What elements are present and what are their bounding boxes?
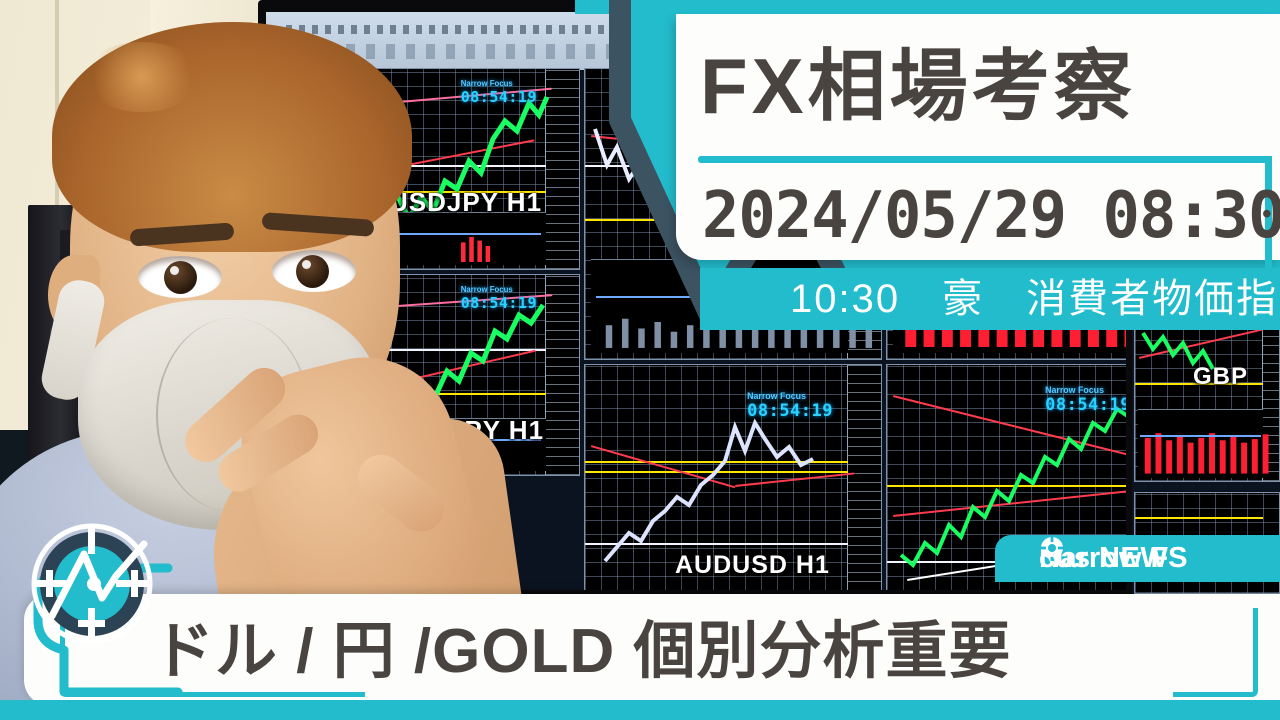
chart-clock: Narrow Focus 08:54:19 bbox=[461, 79, 537, 106]
chart-clock: Narrow Focus 08:54:19 bbox=[747, 391, 833, 421]
chart-indicator-pane bbox=[1138, 409, 1263, 478]
title-divider bbox=[698, 156, 1272, 163]
crosshair-linechart-icon bbox=[28, 520, 156, 648]
eye-left bbox=[138, 256, 222, 298]
thumbnail-canvas: Narrow Focus 08:54:19 USDJPY H1 bbox=[0, 0, 1280, 720]
brand-logo bbox=[28, 520, 156, 648]
page-title: FX相場考察 bbox=[700, 24, 1272, 148]
chart-watermark: Narrow Focus bbox=[747, 391, 833, 401]
chart-watermark: Narrow Focus bbox=[1045, 385, 1131, 395]
chart-level-line bbox=[1135, 517, 1263, 519]
thumb bbox=[349, 446, 453, 541]
chart-symbol-label: GBP bbox=[1193, 363, 1248, 391]
datetime-label: 2024/05/29 08:30 bbox=[702, 172, 1249, 260]
hair bbox=[52, 22, 412, 252]
indicator-histogram bbox=[1140, 426, 1280, 474]
title-card: FX相場考察 2024/05/29 08:30 bbox=[676, 14, 1280, 260]
chart-panel: GBP bbox=[1134, 310, 1280, 482]
chart-watermark: Narrow Focus bbox=[461, 79, 537, 88]
bottom-accent-bar bbox=[0, 700, 1280, 720]
chart-clock: Narrow Focus 08:54:19 bbox=[461, 285, 537, 312]
headline-text: ドル / 円 /GOLD 個別分析重要 bbox=[152, 602, 1246, 702]
event-label: 10:30 豪 消費者物価指数 bbox=[790, 268, 1274, 330]
chart-symbol-label: AUDUSD H1 bbox=[675, 551, 830, 580]
headline-banner: ドル / 円 /GOLD 個別分析重要 bbox=[24, 594, 1280, 706]
iris-right bbox=[296, 255, 329, 288]
brand-badge: Narrow Fcus NEWS bbox=[995, 535, 1280, 582]
eye-right bbox=[272, 250, 356, 292]
indicator-line bbox=[1140, 435, 1260, 437]
chart-watermark: Narrow Focus bbox=[461, 285, 537, 294]
iris-left bbox=[164, 261, 197, 294]
chart-panel: Narrow Focus 08:54:19 AUDUSD H1 bbox=[584, 364, 882, 590]
chart-clock: Narrow Focus 08:54:19 bbox=[1045, 385, 1131, 415]
